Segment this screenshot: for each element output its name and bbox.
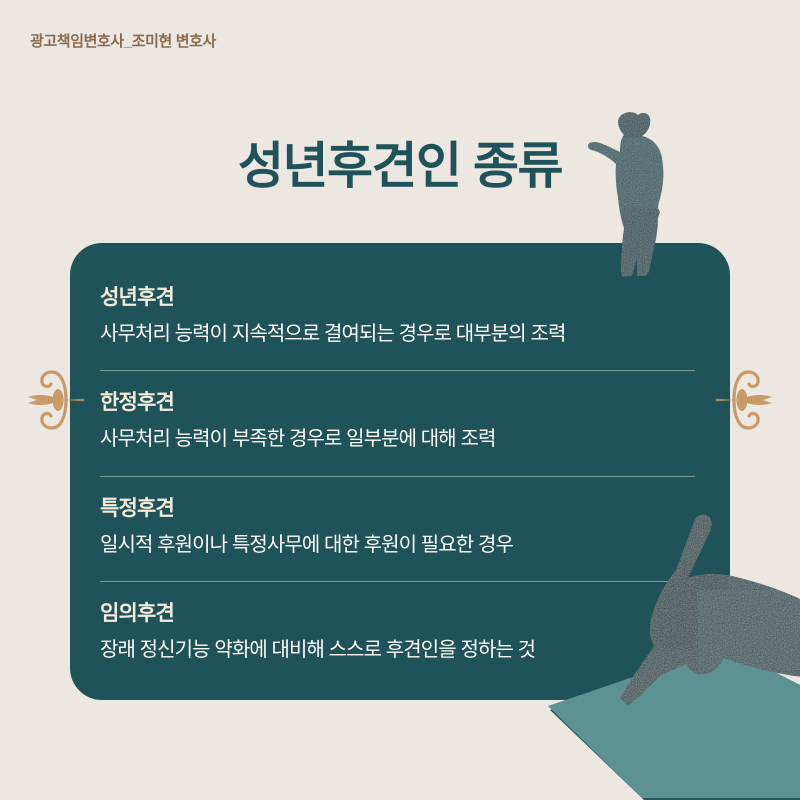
infographic-canvas: 광고책임변호사_조미현 변호사 성년후견인 종류 xyxy=(0,0,800,800)
item-title: 성년후견 xyxy=(100,281,700,311)
item-title: 한정후견 xyxy=(100,386,700,416)
guardianship-types-card: 성년후견 사무처리 능력이 지속적으로 결여되는 경우로 대부분의 조력 한정후… xyxy=(70,243,730,700)
item-title: 임의후견 xyxy=(100,597,700,627)
guardianship-types-list: 성년후견 사무처리 능력이 지속적으로 결여되는 경우로 대부분의 조력 한정후… xyxy=(70,243,730,700)
list-item: 특정후견 일시적 후원이나 특정사무에 대한 후원이 필요한 경우 xyxy=(100,482,700,567)
item-title: 특정후견 xyxy=(100,492,700,522)
list-item: 한정후견 사무처리 능력이 부족한 경우로 일부분에 대해 조력 xyxy=(100,376,700,461)
list-item: 성년후견 사무처리 능력이 지속적으로 결여되는 경우로 대부분의 조력 xyxy=(100,271,700,356)
item-description: 장래 정신기능 약화에 대비해 스스로 후견인을 정하는 것 xyxy=(100,633,700,662)
advertising-responsible-lawyer-label: 광고책임변호사_조미현 변호사 xyxy=(30,30,216,51)
item-description: 일시적 후원이나 특정사무에 대한 후원이 필요한 경우 xyxy=(100,528,700,557)
list-item: 임의후견 장래 정신기능 약화에 대비해 스스로 후견인을 정하는 것 xyxy=(100,587,700,672)
item-description: 사무처리 능력이 부족한 경우로 일부분에 대해 조력 xyxy=(100,422,700,451)
page-title: 성년후견인 종류 xyxy=(0,126,800,198)
item-description: 사무처리 능력이 지속적으로 결여되는 경우로 대부분의 조력 xyxy=(100,317,700,346)
